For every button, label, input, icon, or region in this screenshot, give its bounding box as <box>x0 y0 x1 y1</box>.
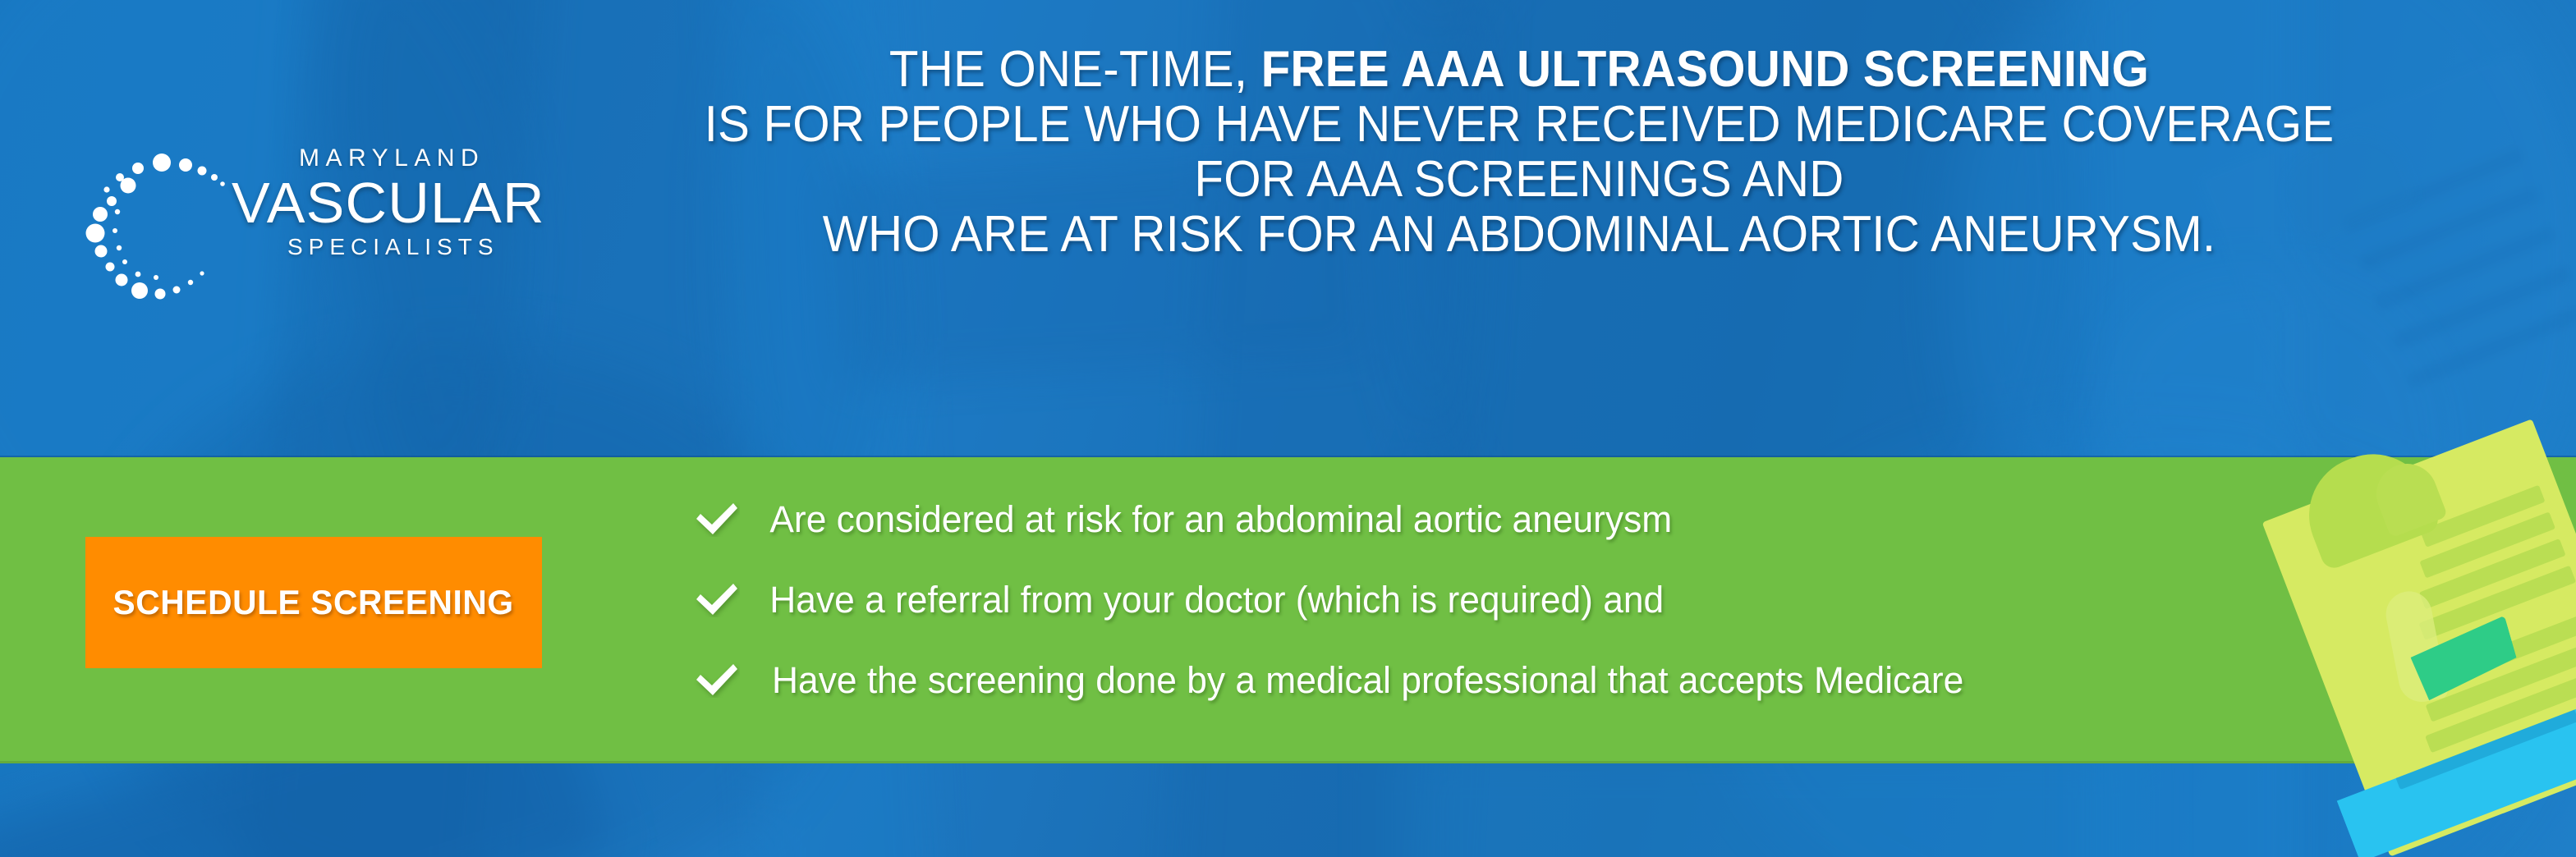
brand-wordmark: MARYLAND VASCULAR SPECIALISTS <box>232 146 527 259</box>
list-item: Have the screening done by a medical pro… <box>694 639 2238 720</box>
headline-section: MARYLAND VASCULAR SPECIALISTS THE ONE-TI… <box>0 0 2576 457</box>
list-item-label: Are considered at risk for an abdominal … <box>769 501 1672 538</box>
brand-line-maryland: MARYLAND <box>299 146 527 171</box>
list-item: Are considered at risk for an abdominal … <box>694 479 2238 559</box>
brand-logo[interactable]: MARYLAND VASCULAR SPECIALISTS <box>79 146 522 310</box>
headline-line-2: IS FOR PEOPLE WHO HAVE NEVER RECEIVED ME… <box>631 98 2407 153</box>
eligibility-list: Are considered at risk for an abdominal … <box>694 479 2238 720</box>
page-title: THE ONE-TIME, FREE AAA ULTRASOUND SCREEN… <box>631 43 2407 263</box>
list-item-label: Have the screening done by a medical pro… <box>772 662 1963 699</box>
schedule-screening-button[interactable]: SCHEDULE SCREENING <box>85 537 542 668</box>
check-icon <box>694 501 740 537</box>
dot-ring-c-icon <box>79 153 232 305</box>
brand-line-vascular: VASCULAR <box>232 173 527 232</box>
headline-line-1: THE ONE-TIME, FREE AAA ULTRASOUND SCREEN… <box>631 43 2407 98</box>
check-icon <box>694 662 740 698</box>
headline-line-1-normal: THE ONE-TIME, <box>889 41 1261 98</box>
bottom-strip <box>0 763 2576 857</box>
headline-line-1-bold: FREE AAA ULTRASOUND SCREENING <box>1261 41 2149 98</box>
promo-banner: MARYLAND VASCULAR SPECIALISTS THE ONE-TI… <box>0 0 2576 857</box>
headline-line-3: FOR AAA SCREENINGS AND <box>631 153 2407 208</box>
list-item-label: Have a referral from your doctor (which … <box>769 581 1664 618</box>
list-item: Have a referral from your doctor (which … <box>694 559 2238 639</box>
schedule-screening-button-label: SCHEDULE SCREENING <box>113 583 514 622</box>
check-icon <box>694 581 740 617</box>
headline-line-4: WHO ARE AT RISK FOR AN ABDOMINAL AORTIC … <box>631 208 2407 263</box>
brand-line-specialists: SPECIALISTS <box>287 236 527 259</box>
